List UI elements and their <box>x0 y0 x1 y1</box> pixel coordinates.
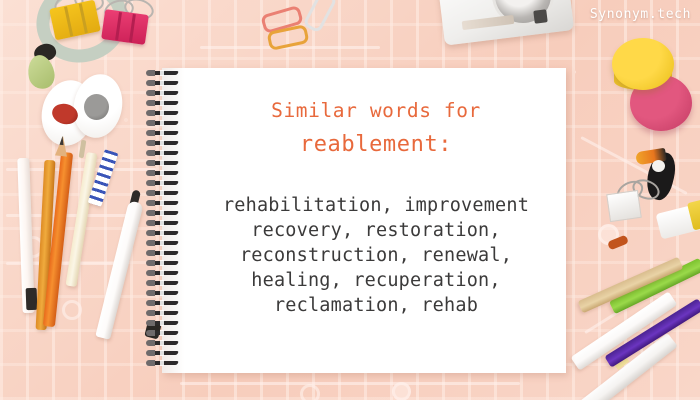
spiral-coil-bar <box>151 181 179 185</box>
synonym-line: reclamation, rehab <box>223 293 529 318</box>
spiral-coil-cap <box>146 200 155 206</box>
spiral-coil-hole <box>160 260 164 266</box>
spiral-coil-hole <box>160 200 164 206</box>
spiral-coil <box>146 160 184 166</box>
spiral-coil <box>146 260 184 266</box>
macaron-yellow <box>612 38 674 90</box>
circuit-pad <box>300 384 320 400</box>
spiral-coil-hole <box>160 280 164 286</box>
spiral-coil-hole <box>160 300 164 306</box>
spiral-coil-cap <box>146 270 155 276</box>
spiral-coil-hole <box>160 360 164 366</box>
spiral-coil-hole <box>160 340 164 346</box>
spiral-coil <box>146 170 184 176</box>
spiral-coil <box>146 230 184 236</box>
spiral-coil-bar <box>151 101 179 105</box>
spiral-coil-hole <box>160 240 164 246</box>
synonym-card: Similar words for reablement: rehabilita… <box>190 68 562 373</box>
spiral-coil-cap <box>146 220 155 226</box>
spiral-coil-bar <box>151 281 179 285</box>
binder-clip-white <box>606 190 642 222</box>
spiral-coil-cap <box>146 150 155 156</box>
spiral-coil <box>146 220 184 226</box>
spiral-coil-cap <box>146 230 155 236</box>
spiral-coil <box>146 210 184 216</box>
toucan-belly <box>652 160 665 172</box>
spiral-coil-hole <box>160 190 164 196</box>
pen-grip <box>26 288 38 310</box>
spiral-coil <box>146 190 184 196</box>
spiral-coil-cap <box>146 360 155 366</box>
spiral-coil-bar <box>151 131 179 135</box>
spiral-coil <box>146 340 184 346</box>
spiral-coil-cap <box>146 340 155 346</box>
spiral-coil <box>146 310 184 316</box>
spiral-coil-cap <box>146 240 155 246</box>
spiral-coil-cap <box>146 120 155 126</box>
spiral-coil-bar <box>151 271 179 275</box>
spiral-coil-cap <box>146 320 155 326</box>
spiral-coil-hole <box>160 70 164 76</box>
synonym-line: recovery, restoration, <box>223 218 529 243</box>
spiral-coil-hole <box>160 150 164 156</box>
spiral-coil <box>146 200 184 206</box>
spiral-coil-hole <box>160 210 164 216</box>
spiral-coil-bar <box>151 301 179 305</box>
screenshot-scene: Similar words for reablement: rehabilita… <box>0 0 700 400</box>
spiral-coil-cap <box>146 350 155 356</box>
spiral-coil-bar <box>151 161 179 165</box>
spiral-coil <box>146 360 184 366</box>
spiral-coil <box>146 100 184 106</box>
spiral-coil-cap <box>146 80 155 86</box>
spiral-coil-hole <box>160 170 164 176</box>
spiral-coil-cap <box>146 70 155 76</box>
spiral-coil <box>146 300 184 306</box>
spiral-coil-bar <box>151 261 179 265</box>
spiral-coil <box>146 320 184 326</box>
circuit-pad <box>392 382 411 400</box>
spiral-coil <box>146 280 184 286</box>
spiral-coil-cap <box>146 170 155 176</box>
spiral-coil-bar <box>151 291 179 295</box>
card-heading-line-1: Similar words for <box>271 99 481 122</box>
spiral-coil-hole <box>160 130 164 136</box>
spiral-coil <box>146 70 184 76</box>
spiral-coil-cap <box>146 90 155 96</box>
spiral-coil-hole <box>160 230 164 236</box>
spiral-coil-bar <box>151 241 179 245</box>
spiral-coil-bar <box>151 321 179 325</box>
spiral-coil-hole <box>160 330 164 336</box>
spiral-coil <box>146 150 184 156</box>
spiral-coil-hole <box>160 290 164 296</box>
card-query-word: reablement: <box>300 132 452 157</box>
spiral-coil-bar <box>151 191 179 195</box>
spiral-binding <box>146 70 186 372</box>
synonym-list: rehabilitation, improvementrecovery, res… <box>223 193 529 318</box>
spiral-coil-hole <box>160 320 164 326</box>
spiral-coil-cap <box>146 250 155 256</box>
spiral-coil-hole <box>160 80 164 86</box>
spiral-coil-cap <box>146 110 155 116</box>
circuit-trace <box>180 382 520 385</box>
spiral-coil-hole <box>160 90 164 96</box>
spiral-coil <box>146 180 184 186</box>
spiral-coil-cap <box>146 280 155 286</box>
spiral-coil-bar <box>151 151 179 155</box>
spiral-coil-cap <box>146 100 155 106</box>
synonym-line: healing, recuperation, <box>223 268 529 293</box>
spiral-coil <box>146 130 184 136</box>
spiral-coil-bar <box>151 201 179 205</box>
spiral-coil-hole <box>160 250 164 256</box>
spiral-coil-hole <box>160 310 164 316</box>
spiral-coil-bar <box>151 251 179 255</box>
spiral-coil-cap <box>146 310 155 316</box>
spiral-coil-hole <box>160 160 164 166</box>
synonym-line: reconstruction, renewal, <box>223 243 529 268</box>
spiral-coil-cap <box>146 190 155 196</box>
spiral-coil <box>146 330 184 336</box>
spiral-coil-cap <box>146 160 155 166</box>
camera-button <box>533 9 547 23</box>
spiral-coil <box>146 350 184 356</box>
spiral-coil-hole <box>160 120 164 126</box>
spiral-coil <box>146 250 184 256</box>
spiral-coil-bar <box>151 221 179 225</box>
spiral-coil-hole <box>160 100 164 106</box>
synonym-line: rehabilitation, improvement <box>223 193 529 218</box>
spiral-coil-cap <box>146 300 155 306</box>
spiral-coil-bar <box>151 171 179 175</box>
spiral-coil-bar <box>151 91 179 95</box>
spiral-coil-bar <box>151 231 179 235</box>
spiral-coil-cap <box>146 290 155 296</box>
spiral-coil-bar <box>151 111 179 115</box>
spiral-coil-bar <box>151 311 179 315</box>
spiral-coil-hole <box>160 110 164 116</box>
spiral-coil-bar <box>151 81 179 85</box>
brand-wordmark: Synonym.tech <box>590 7 691 22</box>
spiral-coil-cap <box>146 330 155 336</box>
spiral-coil-bar <box>151 331 179 335</box>
spiral-coil-bar <box>151 341 179 345</box>
binder-clip-pink <box>101 9 149 45</box>
spiral-coil-bar <box>151 361 179 365</box>
spiral-coil <box>146 90 184 96</box>
spiral-coil <box>146 240 184 246</box>
spiral-coil-bar <box>151 211 179 215</box>
spiral-coil-cap <box>146 210 155 216</box>
spiral-coil <box>146 110 184 116</box>
spiral-coil <box>146 270 184 276</box>
spiral-coil-cap <box>146 260 155 266</box>
spiral-coil <box>146 290 184 296</box>
spiral-coil-bar <box>151 351 179 355</box>
spiral-coil-cap <box>146 130 155 136</box>
spiral-coil-hole <box>160 350 164 356</box>
spiral-coil-hole <box>160 270 164 276</box>
spiral-coil-hole <box>160 180 164 186</box>
spiral-coil-hole <box>160 140 164 146</box>
spiral-coil-cap <box>146 140 155 146</box>
spiral-coil <box>146 120 184 126</box>
spiral-coil-bar <box>151 121 179 125</box>
spiral-coil-hole <box>160 220 164 226</box>
grey-spot <box>84 94 109 120</box>
circuit-pad <box>62 300 82 320</box>
spiral-coil-bar <box>151 71 179 75</box>
spiral-coil-cap <box>146 180 155 186</box>
spiral-coil <box>146 80 184 86</box>
spiral-coil <box>146 140 184 146</box>
spiral-coil-bar <box>151 141 179 145</box>
